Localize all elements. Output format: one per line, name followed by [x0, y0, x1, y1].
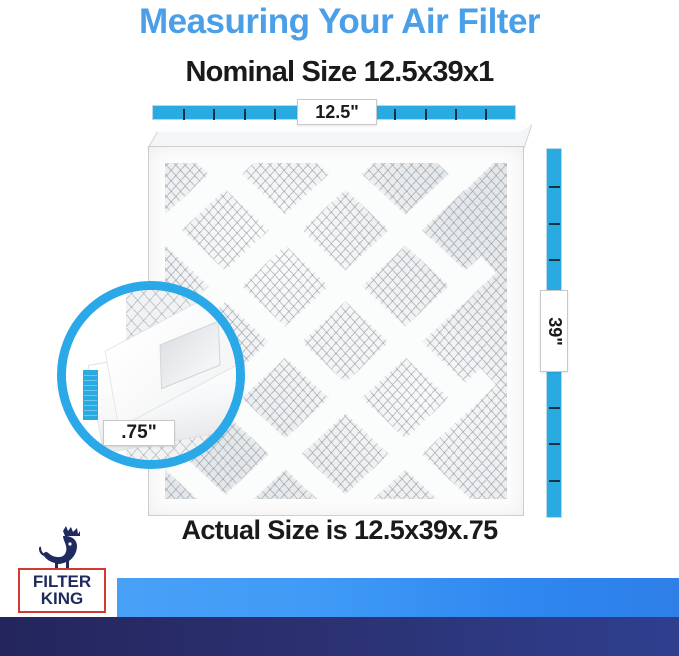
ruler-tick	[549, 186, 560, 188]
ruler-tick	[274, 109, 276, 120]
width-dimension-value: 12.5"	[315, 102, 359, 123]
ruler-tick	[425, 109, 427, 120]
ruler-tick	[84, 405, 97, 406]
ruler-tick	[549, 443, 560, 445]
height-dimension-value: 39"	[544, 317, 565, 346]
footer-dark-band	[0, 617, 679, 656]
ruler-tick	[549, 223, 560, 225]
height-dimension-label: 39"	[540, 290, 568, 372]
brand-logo[interactable]: FILTER KING	[18, 527, 106, 613]
logo-line-2: KING	[41, 591, 84, 608]
ruler-tick	[84, 410, 97, 411]
ruler-tick	[84, 395, 97, 396]
ruler-tick	[84, 400, 97, 401]
page-title: Measuring Your Air Filter	[0, 2, 679, 42]
depth-ruler	[83, 370, 98, 420]
ruler-tick	[549, 407, 560, 409]
depth-dimension-value: .75"	[121, 422, 156, 444]
ruler-tick	[84, 375, 97, 376]
ruler-tick	[84, 380, 97, 381]
ruler-tick	[84, 390, 97, 391]
infographic-canvas: Measuring Your Air Filter Nominal Size 1…	[0, 0, 679, 656]
ruler-tick	[183, 109, 185, 120]
ruler-tick	[213, 109, 215, 120]
logo-wordmark-box: FILTER KING	[18, 568, 106, 613]
ruler-tick	[485, 109, 487, 120]
ruler-tick	[84, 415, 97, 416]
depth-dimension-label: .75"	[103, 420, 175, 446]
ruler-tick	[394, 109, 396, 120]
ruler-tick	[455, 109, 457, 120]
ruler-tick	[84, 385, 97, 386]
ruler-tick	[549, 480, 560, 482]
crowned-lion-icon	[36, 525, 92, 571]
width-dimension-label: 12.5"	[297, 99, 377, 125]
logo-line-1: FILTER	[33, 574, 91, 591]
ruler-tick	[244, 109, 246, 120]
footer-light-band	[117, 578, 679, 617]
ruler-tick	[549, 259, 560, 261]
nominal-size-heading: Nominal Size 12.5x39x1	[0, 56, 679, 89]
